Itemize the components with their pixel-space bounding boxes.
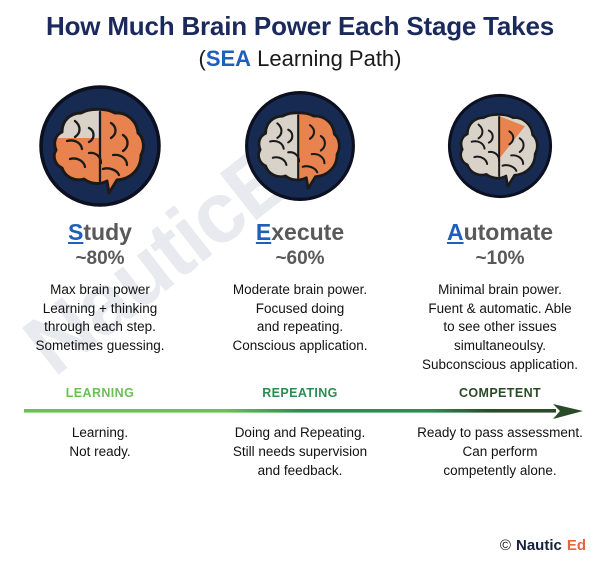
logo-name-dark: Nautic bbox=[516, 537, 562, 554]
band-cell-competent: COMPETENT bbox=[400, 384, 600, 402]
stage-percent-study: ~80% bbox=[0, 248, 200, 270]
progress-band: LEARNING REPEATING COMPETENT bbox=[0, 384, 600, 418]
outcome-text-study: Learning. Not ready. bbox=[0, 424, 200, 461]
page-title: How Much Brain Power Each Stage Takes bbox=[0, 12, 600, 42]
brain-badge-wrap-execute bbox=[200, 80, 400, 212]
stage-percent-execute: ~60% bbox=[200, 248, 400, 270]
progress-arrow-icon bbox=[0, 404, 600, 420]
stage-rest-execute: xecute bbox=[271, 219, 344, 245]
band-label-learning: LEARNING bbox=[66, 386, 134, 400]
subtitle-rest: Learning Path) bbox=[251, 46, 401, 71]
brain-badge-icon-execute bbox=[243, 89, 357, 203]
stage-percent-automate: ~10% bbox=[400, 248, 600, 270]
stage-name-execute: Execute bbox=[200, 220, 400, 245]
band-cell-learning: LEARNING bbox=[0, 384, 200, 402]
stage-column-study: Study ~80% Max brain power Learning + th… bbox=[0, 80, 200, 374]
band-cell-repeating: REPEATING bbox=[200, 384, 400, 402]
stage-name-study: Study bbox=[0, 220, 200, 245]
brain-badge-wrap-study bbox=[0, 80, 200, 212]
stage-description-automate: Minimal brain power. Fuent & automatic. … bbox=[400, 281, 600, 374]
subtitle-open-paren: ( bbox=[198, 46, 205, 71]
outcome-column-study: Learning. Not ready. bbox=[0, 424, 200, 480]
band-label-row: LEARNING REPEATING COMPETENT bbox=[0, 384, 600, 402]
subtitle-accent-sea: SEA bbox=[206, 46, 251, 71]
stage-name-automate: Automate bbox=[400, 220, 600, 245]
stage-column-execute: Execute ~60% Moderate brain power. Focus… bbox=[200, 80, 400, 374]
page-subtitle: (SEA Learning Path) bbox=[0, 46, 600, 72]
stage-description-execute: Moderate brain power. Focused doing and … bbox=[200, 281, 400, 356]
logo-name-accent: Ed bbox=[567, 537, 586, 554]
copyright-icon: © bbox=[500, 537, 511, 554]
title-block: How Much Brain Power Each Stage Takes (S… bbox=[0, 0, 600, 72]
outcome-column-execute: Doing and Repeating. Still needs supervi… bbox=[200, 424, 400, 480]
infographic-root: NauticEd How Much Brain Power Each Stage… bbox=[0, 0, 600, 564]
stage-columns: Study ~80% Max brain power Learning + th… bbox=[0, 80, 600, 374]
band-label-competent: COMPETENT bbox=[459, 386, 541, 400]
brain-badge-wrap-automate bbox=[400, 80, 600, 212]
stage-rest-study: tudy bbox=[83, 219, 132, 245]
outcome-row: Learning. Not ready. Doing and Repeating… bbox=[0, 424, 600, 480]
stage-column-automate: Automate ~10% Minimal brain power. Fuent… bbox=[400, 80, 600, 374]
outcome-text-automate: Ready to pass assessment. Can perform co… bbox=[400, 424, 600, 480]
nauticed-logo: © NauticEd bbox=[500, 537, 586, 554]
stage-description-study: Max brain power Learning + thinking thro… bbox=[0, 281, 200, 356]
outcome-text-execute: Doing and Repeating. Still needs supervi… bbox=[200, 424, 400, 480]
stage-initial-study: S bbox=[68, 219, 83, 245]
band-label-repeating: REPEATING bbox=[262, 386, 338, 400]
outcome-column-automate: Ready to pass assessment. Can perform co… bbox=[400, 424, 600, 480]
brain-badge-icon-automate bbox=[446, 92, 554, 200]
stage-initial-automate: A bbox=[447, 219, 464, 245]
stage-rest-automate: utomate bbox=[464, 219, 553, 245]
stage-initial-execute: E bbox=[256, 219, 271, 245]
brain-badge-icon-study bbox=[37, 83, 163, 209]
